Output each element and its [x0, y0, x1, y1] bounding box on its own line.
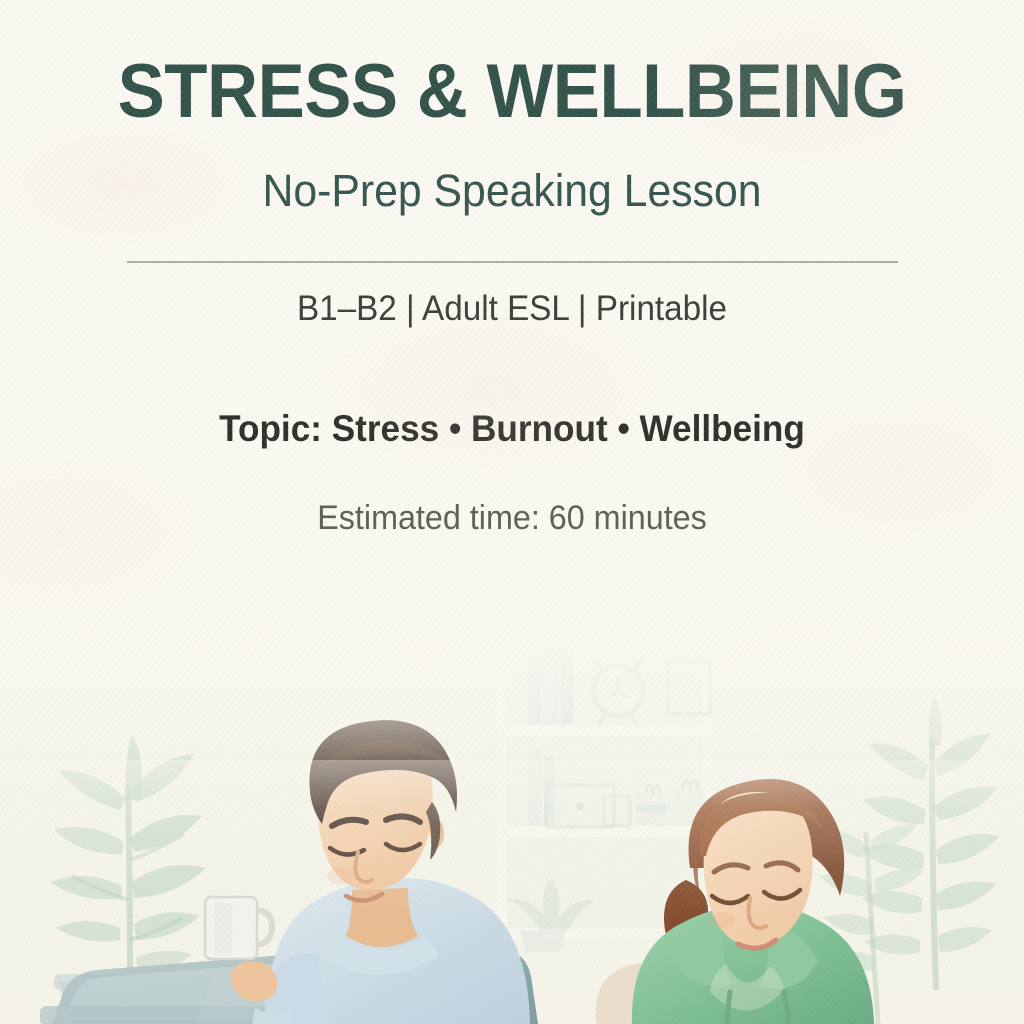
- estimated-time-line: Estimated time: 60 minutes: [26, 501, 999, 535]
- page-subtitle: No-Prep Speaking Lesson: [26, 168, 999, 213]
- level-meta-line: B1–B2 | Adult ESL | Printable: [26, 291, 999, 326]
- page-title: STRESS & WELLBEING: [36, 54, 988, 130]
- poster-canvas: STRESS & WELLBEING No-Prep Speaking Less…: [0, 0, 1024, 1024]
- man-neck: [346, 888, 418, 947]
- topic-line: Topic: Stress • Burnout • Wellbeing: [26, 410, 999, 447]
- horizontal-divider: [127, 261, 898, 263]
